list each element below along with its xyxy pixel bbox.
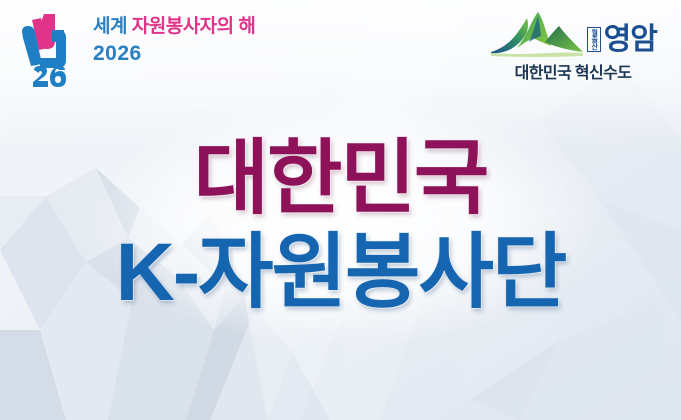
wolchulsan-mountain-icon [489, 8, 585, 58]
ivy26-title-line: 세계 자원봉사자의 해 [93, 17, 255, 37]
wolchulsan-badge: 월출산 [587, 27, 601, 52]
yeongam-logo-lockup: 월출산 영암 대한민국 혁신수도 [473, 6, 673, 83]
headline-block: 대한민국 K-자원봉사단 [0, 138, 681, 314]
promo-banner: 세계 자원봉사자의 해 2026 [0, 0, 681, 420]
ivy26-logo-lockup: 세계 자원봉사자의 해 2026 [14, 8, 255, 88]
yeongam-name-block: 월출산 영암 [587, 26, 657, 59]
ivy26-year: 2026 [93, 43, 255, 64]
headline-line-2: K-자원봉사단 [0, 232, 681, 314]
yeongam-name-text: 영암 [604, 26, 657, 55]
ivy26-text-block: 세계 자원봉사자의 해 2026 [93, 8, 255, 64]
yeongam-top-row: 월출산 영암 [473, 6, 673, 58]
ivy26-title-blue-segment: 세계 [93, 16, 127, 37]
headline-line-1: 대한민국 [0, 138, 681, 220]
ivy26-hand-mark-icon [14, 8, 84, 88]
ivy26-title-pink-segment: 자원봉사자의 해 [132, 16, 256, 37]
yeongam-slogan: 대한민국 혁신수도 [515, 59, 632, 83]
